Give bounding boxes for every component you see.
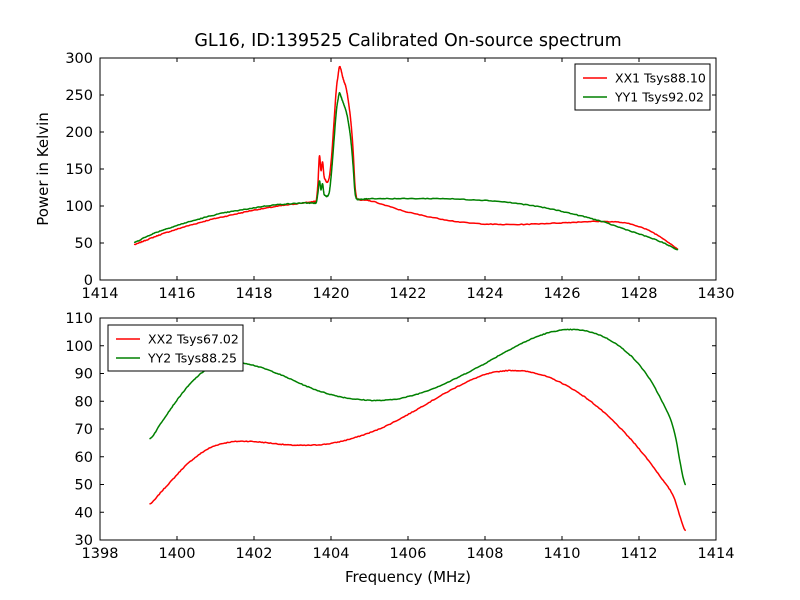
plot-canvas: GL16, ID:139525 Calibrated On-source spe… bbox=[0, 0, 800, 600]
page-title: GL16, ID:139525 Calibrated On-source spe… bbox=[194, 31, 621, 51]
y-tick-label: 80 bbox=[75, 394, 93, 410]
y-tick-label: 70 bbox=[75, 422, 93, 438]
legend-label: XX1 Tsys88.10 bbox=[615, 71, 706, 86]
legend-label: YY2 Tsys88.25 bbox=[147, 351, 237, 366]
x-tick-label: 1422 bbox=[390, 286, 427, 302]
x-tick-label: 1416 bbox=[159, 286, 196, 302]
y-tick-label: 300 bbox=[65, 51, 93, 67]
x-tick-label: 1406 bbox=[390, 546, 427, 562]
x-tick-label: 1402 bbox=[236, 546, 273, 562]
legend[interactable]: XX1 Tsys88.10YY1 Tsys92.02 bbox=[575, 64, 710, 110]
y-axis-label: Power in Kelvin bbox=[34, 112, 52, 226]
y-tick-label: 110 bbox=[65, 311, 93, 327]
x-tick-label: 1428 bbox=[621, 286, 658, 302]
y-tick-label: 40 bbox=[75, 505, 93, 521]
x-tick-label: 1414 bbox=[698, 546, 735, 562]
y-tick-label: 200 bbox=[65, 125, 93, 141]
x-tick-label: 1424 bbox=[467, 286, 504, 302]
x-tick-label: 1430 bbox=[698, 286, 735, 302]
x-axis-label: Frequency (MHz) bbox=[345, 568, 471, 586]
legend-label: YY1 Tsys92.02 bbox=[614, 90, 704, 105]
spectrum-figure: GL16, ID:139525 Calibrated On-source spe… bbox=[0, 0, 800, 600]
x-tick-label: 1426 bbox=[544, 286, 581, 302]
series-line bbox=[135, 93, 678, 250]
x-tick-label: 1400 bbox=[159, 546, 196, 562]
x-tick-label: 1418 bbox=[236, 286, 273, 302]
x-tick-label: 1408 bbox=[467, 546, 504, 562]
x-tick-label: 1404 bbox=[313, 546, 350, 562]
x-tick-label: 1410 bbox=[544, 546, 581, 562]
y-tick-label: 250 bbox=[65, 88, 93, 104]
bottom-panel: 1398140014021404140614081410141214143040… bbox=[65, 311, 734, 586]
y-tick-label: 100 bbox=[65, 339, 93, 355]
y-tick-label: 100 bbox=[65, 199, 93, 215]
y-tick-label: 90 bbox=[75, 367, 93, 383]
top-panel: 1414141614181420142214241426142814300501… bbox=[34, 51, 734, 302]
x-tick-label: 1420 bbox=[313, 286, 350, 302]
y-tick-label: 60 bbox=[75, 450, 93, 466]
legend[interactable]: XX2 Tsys67.02YY2 Tsys88.25 bbox=[108, 325, 243, 371]
y-tick-label: 150 bbox=[65, 162, 93, 178]
y-tick-label: 50 bbox=[75, 236, 93, 252]
y-tick-label: 0 bbox=[84, 273, 93, 289]
y-tick-label: 30 bbox=[75, 533, 93, 549]
y-tick-label: 50 bbox=[75, 478, 93, 494]
legend-label: XX2 Tsys67.02 bbox=[148, 332, 239, 347]
x-tick-label: 1412 bbox=[621, 546, 658, 562]
